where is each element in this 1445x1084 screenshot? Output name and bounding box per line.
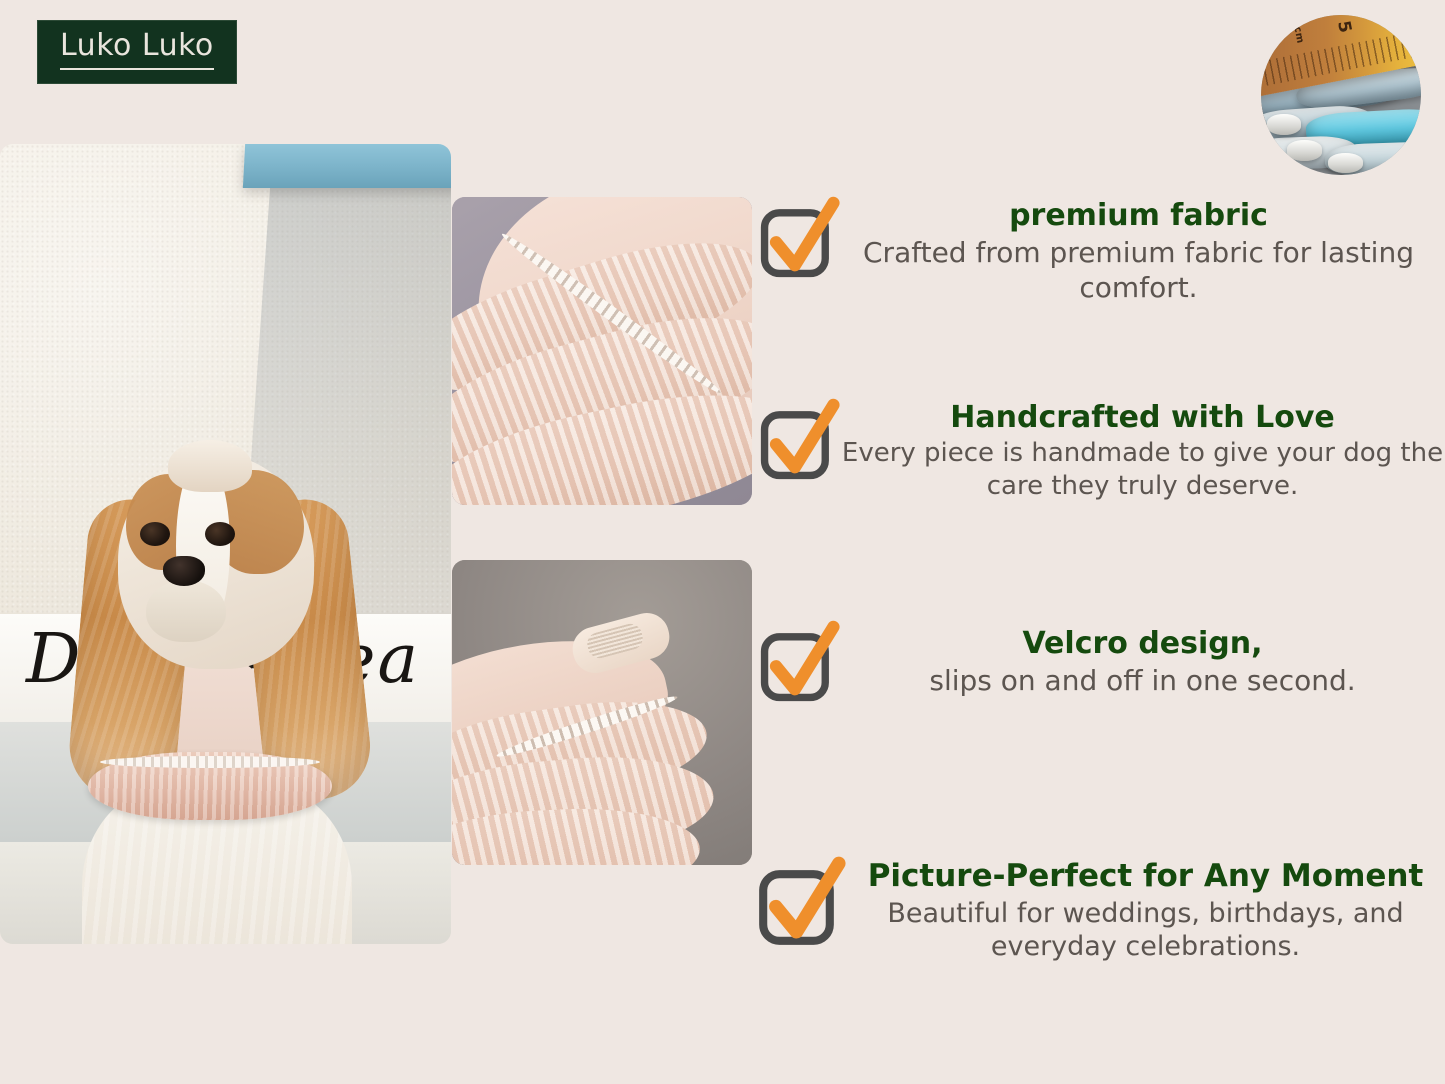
feature-text-block: Picture-Perfect for Any Moment Beautiful…: [846, 856, 1445, 964]
feature-premium-fabric: premium fabric Crafted from premium fabr…: [758, 196, 1445, 305]
tape-number: 5: [1333, 19, 1355, 34]
dog-eye-left: [140, 522, 170, 546]
tape-number: 6: [1377, 15, 1399, 26]
dog-eye-right: [205, 522, 235, 546]
tape-number: 7: [1420, 15, 1421, 18]
checkbox-checked-icon: [758, 198, 840, 280]
dog-head-tuft: [168, 440, 252, 492]
feature-title: Picture-Perfect for Any Moment: [846, 858, 1445, 895]
feature-velcro-design: Velcro design, slips on and off in one s…: [758, 620, 1445, 704]
feature-title: Velcro design,: [840, 626, 1445, 661]
tape-unit-label: cm: [1291, 26, 1305, 45]
dog-muzzle: [146, 580, 226, 642]
feature-title: Handcrafted with Love: [840, 400, 1445, 435]
feature-handcrafted-with-love: Handcrafted with Love Every piece is han…: [758, 398, 1445, 502]
checkbox-checked-icon: [758, 622, 840, 704]
tape-number: 4: [1261, 37, 1263, 52]
dog-nose: [163, 556, 205, 586]
spool-cap: [1328, 153, 1363, 174]
spool-cap: [1267, 114, 1301, 135]
lace-collar-closeup-photo: [452, 197, 752, 505]
dog-wearing-lace-collar-photo: Dog lleflea: [0, 144, 451, 944]
feature-text-block: Handcrafted with Love Every piece is han…: [840, 398, 1445, 502]
spool-cap: [1287, 140, 1322, 161]
feature-description: Beautiful for weddings, birthdays, and e…: [846, 897, 1445, 965]
feature-text-block: premium fabric Crafted from premium fabr…: [840, 196, 1445, 305]
feature-picture-perfect: Picture-Perfect for Any Moment Beautiful…: [756, 856, 1445, 964]
collar-flat-lay-velcro-photo: [452, 560, 752, 865]
feature-text-block: Velcro design, slips on and off in one s…: [840, 620, 1445, 698]
feature-title: premium fabric: [840, 198, 1437, 233]
checkbox-checked-icon: [756, 858, 846, 948]
brand-logo[interactable]: Luko Luko: [37, 20, 237, 84]
sewing-supplies-badge: 4 cm 5 6 7: [1261, 15, 1421, 175]
checkbox-checked-icon: [758, 400, 840, 482]
feature-description: Every piece is handmade to give your dog…: [840, 437, 1445, 502]
pearl-trim-on-dog: [100, 756, 320, 768]
brand-logo-text: Luko Luko: [60, 30, 214, 70]
blue-shelf: [243, 144, 451, 188]
feature-description: slips on and off in one second.: [840, 663, 1445, 698]
feature-description: Crafted from premium fabric for lasting …: [840, 235, 1437, 305]
